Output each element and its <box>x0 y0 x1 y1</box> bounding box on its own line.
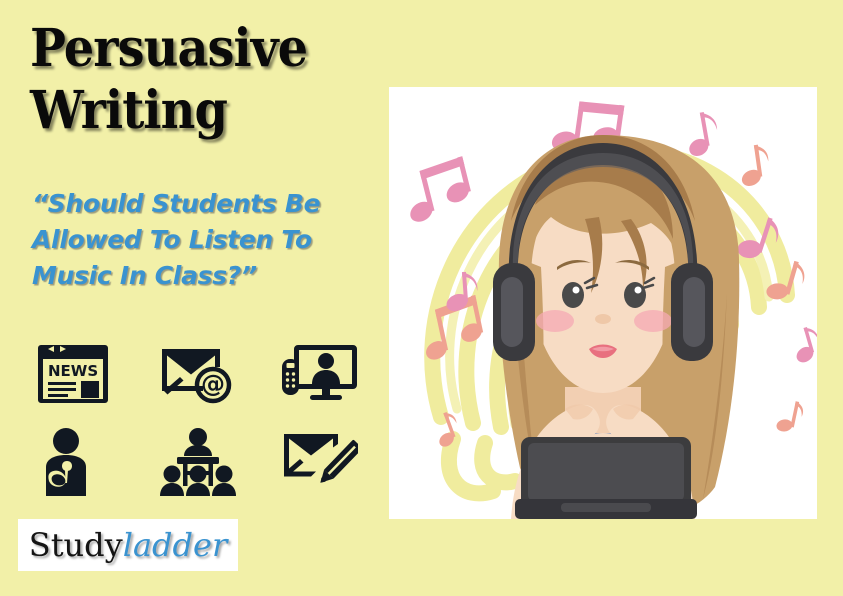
subtitle-line-2: Allowed To Listen To <box>32 222 362 258</box>
email-envelope-at-icon: @ <box>160 330 282 418</box>
lecture-audience-icon <box>160 418 282 506</box>
title-line-2: Writing <box>30 80 343 142</box>
studyladder-logo[interactable]: Studyladder <box>18 519 238 571</box>
television-broadcast-icon <box>282 330 404 418</box>
letter-pencil-icon <box>282 418 404 506</box>
svg-text:@: @ <box>201 370 225 398</box>
media-icon-grid: NEWS @ <box>38 330 368 506</box>
illustration-panel <box>389 87 817 519</box>
logo-text: Studyladder <box>29 529 227 561</box>
page-subtitle: “Should Students Be Allowed To Listen To… <box>32 186 362 294</box>
subtitle-line-1: “Should Students Be <box>32 186 362 222</box>
page-title: Persuasive Writing <box>30 18 370 142</box>
svg-text:NEWS: NEWS <box>48 362 98 380</box>
logo-ladder-text: ladder <box>123 526 228 564</box>
subtitle-line-3: Music In Class?” <box>32 258 362 294</box>
news-website-icon: NEWS <box>38 330 160 418</box>
logo-study-text: Study <box>29 526 123 564</box>
speaker-microphone-icon <box>38 418 160 506</box>
title-line-1: Persuasive <box>30 18 343 80</box>
persuasive-writing-poster: Persuasive Writing “Should Students Be A… <box>0 0 843 596</box>
